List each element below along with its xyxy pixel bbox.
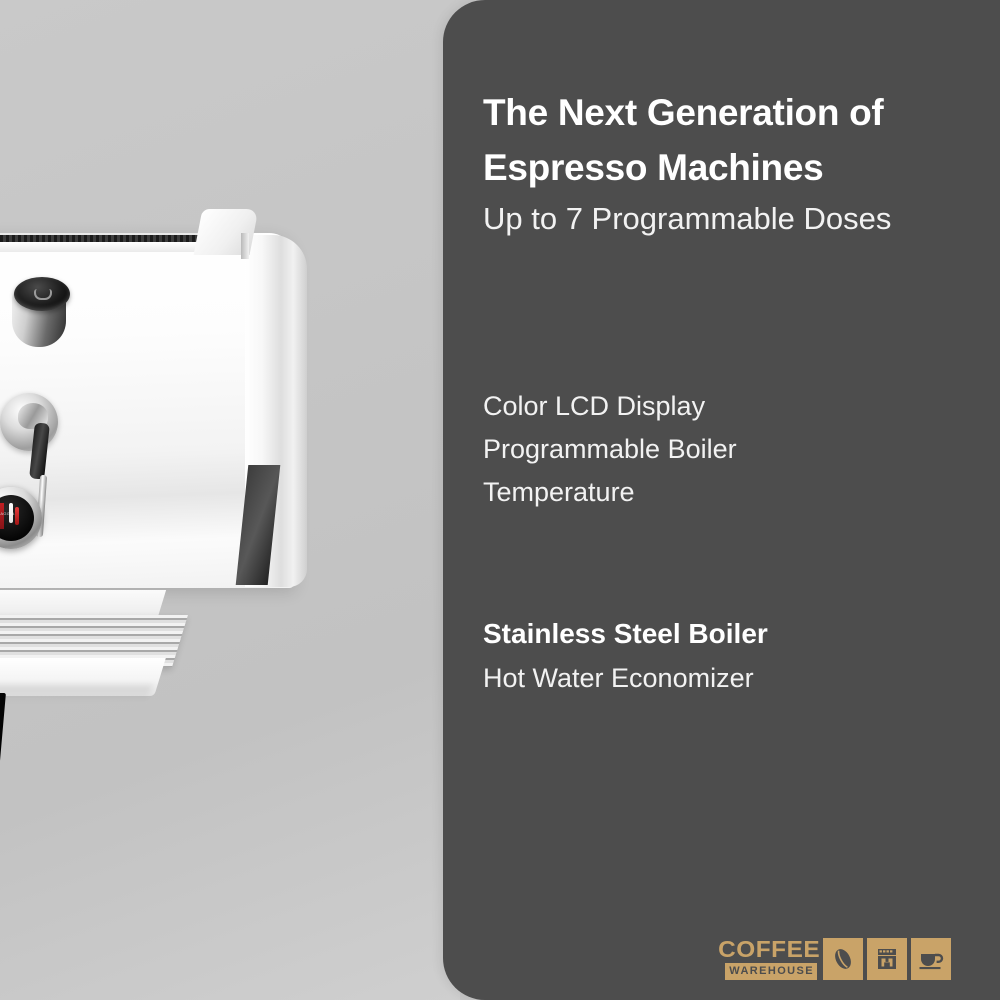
- pressure-gauge-face: GAGGIA: [0, 495, 34, 541]
- feature-line-boiler: Programmable Boiler: [483, 428, 983, 471]
- feature-block-display: Color LCD Display Programmable Boiler Te…: [483, 385, 983, 515]
- coffee-warehouse-logo: COFFEE WAREHOUSE: [721, 938, 951, 980]
- logo-tile-cup: [911, 938, 951, 980]
- power-icon: [34, 289, 52, 300]
- feature-block-boiler: Stainless Steel Boiler Hot Water Economi…: [483, 612, 983, 700]
- feature-line-economizer: Hot Water Economizer: [483, 657, 983, 700]
- headline-text: The Next Generation of Espresso Machines: [483, 86, 983, 196]
- gauge-red-zone: [0, 503, 4, 529]
- machine-top-lip: [0, 242, 215, 252]
- logo-tile-machine: [867, 938, 907, 980]
- feature-line-lcd: Color LCD Display: [483, 385, 983, 428]
- logo-word-warehouse: WAREHOUSE: [725, 963, 817, 980]
- gauge-needle-red: [15, 507, 19, 525]
- gauge-needle-white: [9, 503, 13, 523]
- espresso-machine-icon: [874, 946, 900, 972]
- logo-word-coffee: COFFEE: [718, 938, 820, 961]
- drip-tray-shadow: [0, 685, 152, 701]
- logo-tile-bean: [823, 938, 863, 980]
- logo-wordmark: COFFEE WAREHOUSE: [721, 938, 819, 980]
- feature-block-headline: The Next Generation of Espresso Machines…: [483, 86, 983, 242]
- steam-knob: [8, 277, 70, 351]
- feature-panel-content: The Next Generation of Espresso Machines…: [483, 0, 973, 1000]
- feature-line-temperature: Temperature: [483, 471, 983, 514]
- espresso-machine-illustration: 24.0: [0, 215, 320, 635]
- machine-top-tab-edge: [241, 233, 249, 259]
- machine-leg: [0, 693, 6, 783]
- promo-banner: 24.0: [0, 0, 1000, 1000]
- subheadline-text: Up to 7 Programmable Doses: [483, 196, 983, 243]
- product-photo: 24.0: [0, 0, 460, 1000]
- coffee-bean-icon: [830, 946, 856, 972]
- feature-bold-stainless-boiler: Stainless Steel Boiler: [483, 612, 983, 657]
- feature-panel: The Next Generation of Espresso Machines…: [443, 0, 1000, 1000]
- coffee-cup-icon: [917, 946, 945, 972]
